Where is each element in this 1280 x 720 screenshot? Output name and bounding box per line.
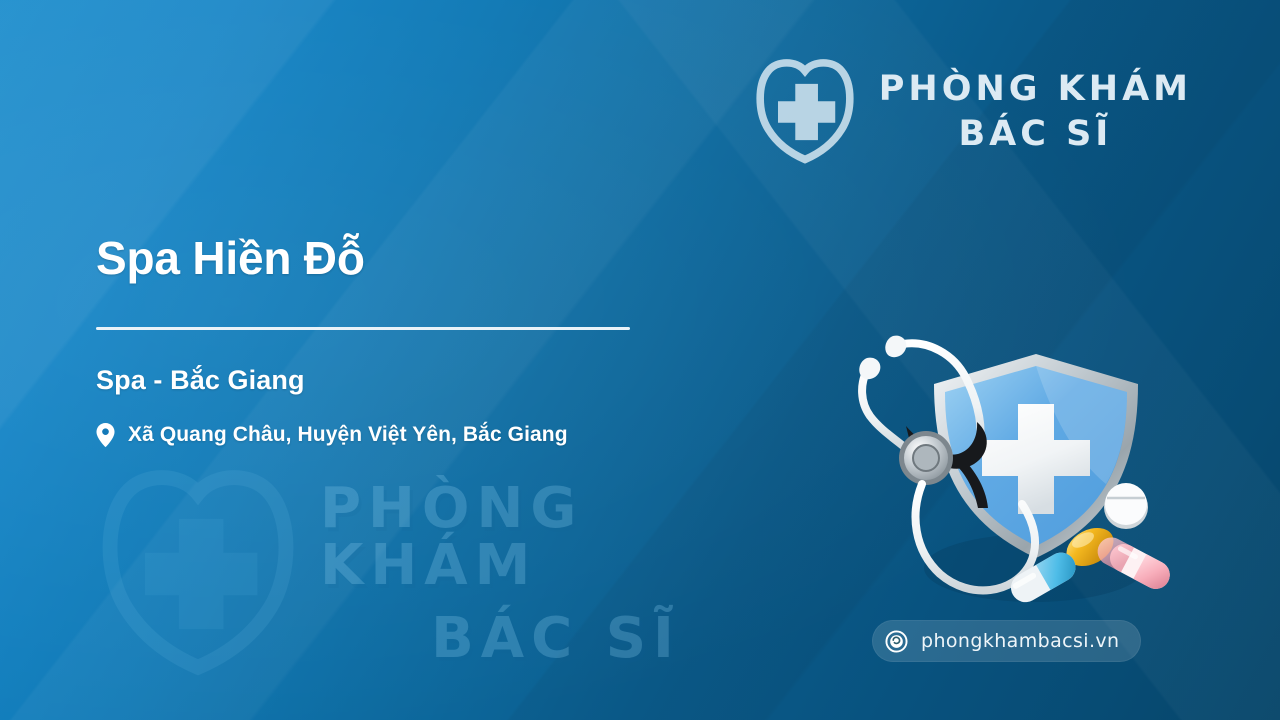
brand-line-2: BÁC SĨ bbox=[958, 117, 1112, 152]
brand-watermark: PHÒNG KHÁM BÁC SĨ bbox=[92, 466, 792, 681]
heart-cross-emblem-icon bbox=[751, 58, 859, 166]
clinic-address-row: Xã Quang Châu, Huyện Việt Yên, Bắc Giang bbox=[96, 422, 816, 448]
website-badge[interactable]: phongkhambacsi.vn bbox=[872, 620, 1141, 662]
page-title: Spa Hiền Đỗ bbox=[96, 232, 816, 285]
website-url: phongkhambacsi.vn bbox=[921, 630, 1119, 652]
stethoscope-shield-pills-illustration bbox=[838, 318, 1184, 623]
watermark-line-2: BÁC SĨ bbox=[431, 610, 681, 667]
heart-cross-emblem-icon bbox=[92, 468, 304, 680]
watermark-line-1: PHÒNG KHÁM bbox=[320, 480, 792, 594]
clinic-category: Spa - Bắc Giang bbox=[96, 365, 816, 396]
globe-icon bbox=[885, 630, 908, 653]
clinic-address: Xã Quang Châu, Huyện Việt Yên, Bắc Giang bbox=[128, 423, 568, 447]
map-pin-icon bbox=[96, 422, 115, 448]
promo-card: PHÒNG KHÁM BÁC SĨ PHÒNG KHÁM BÁC SĨ Spa … bbox=[0, 0, 1280, 720]
brand-logo: PHÒNG KHÁM BÁC SĨ bbox=[751, 58, 1192, 166]
brand-line-1: PHÒNG KHÁM bbox=[879, 72, 1192, 107]
brand-wordmark: PHÒNG KHÁM BÁC SĨ bbox=[879, 72, 1192, 152]
title-divider bbox=[96, 327, 630, 330]
clinic-info: Spa Hiền Đỗ Spa - Bắc Giang Xã Quang Châ… bbox=[96, 232, 816, 448]
watermark-wordmark: PHÒNG KHÁM BÁC SĨ bbox=[320, 480, 792, 667]
